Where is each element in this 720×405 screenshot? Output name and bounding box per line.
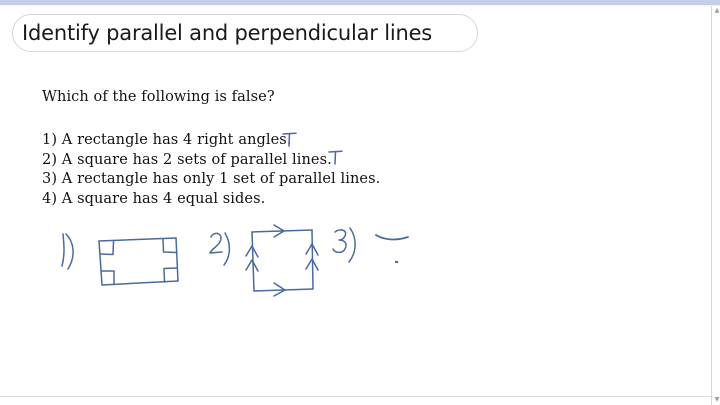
top-band-shadow (0, 5, 720, 7)
option-item-4: 4) A square has 4 equal sides. (42, 190, 380, 210)
sketch-3-stroke-ink (376, 235, 408, 262)
vertical-scrollbar[interactable]: ▲ ▼ (711, 6, 720, 405)
slide-canvas: Identify parallel and perpendicular line… (0, 0, 720, 405)
sketch-3-label-ink (333, 228, 355, 262)
sketch-1-label-ink (62, 234, 73, 269)
scrollbar-up-arrow-icon[interactable]: ▲ (713, 7, 720, 15)
page-title: Identify parallel and perpendicular line… (22, 21, 432, 45)
sketch-2-square-ink (246, 225, 318, 296)
question-prompt: Which of the following is false? (42, 89, 275, 105)
sketch-2-label-ink (210, 233, 229, 265)
option-item-1: 1) A rectangle has 4 right angles. (42, 131, 380, 151)
option-item-2: 2) A square has 2 sets of parallel lines… (42, 151, 380, 171)
sketch-1-rectangle-ink (99, 238, 178, 285)
answer-options-list: 1) A rectangle has 4 right angles. 2) A … (42, 131, 380, 209)
scrollbar-down-arrow-icon[interactable]: ▼ (713, 396, 720, 404)
option-item-3: 3) A rectangle has only 1 set of paralle… (42, 170, 380, 190)
bottom-divider (0, 396, 712, 397)
